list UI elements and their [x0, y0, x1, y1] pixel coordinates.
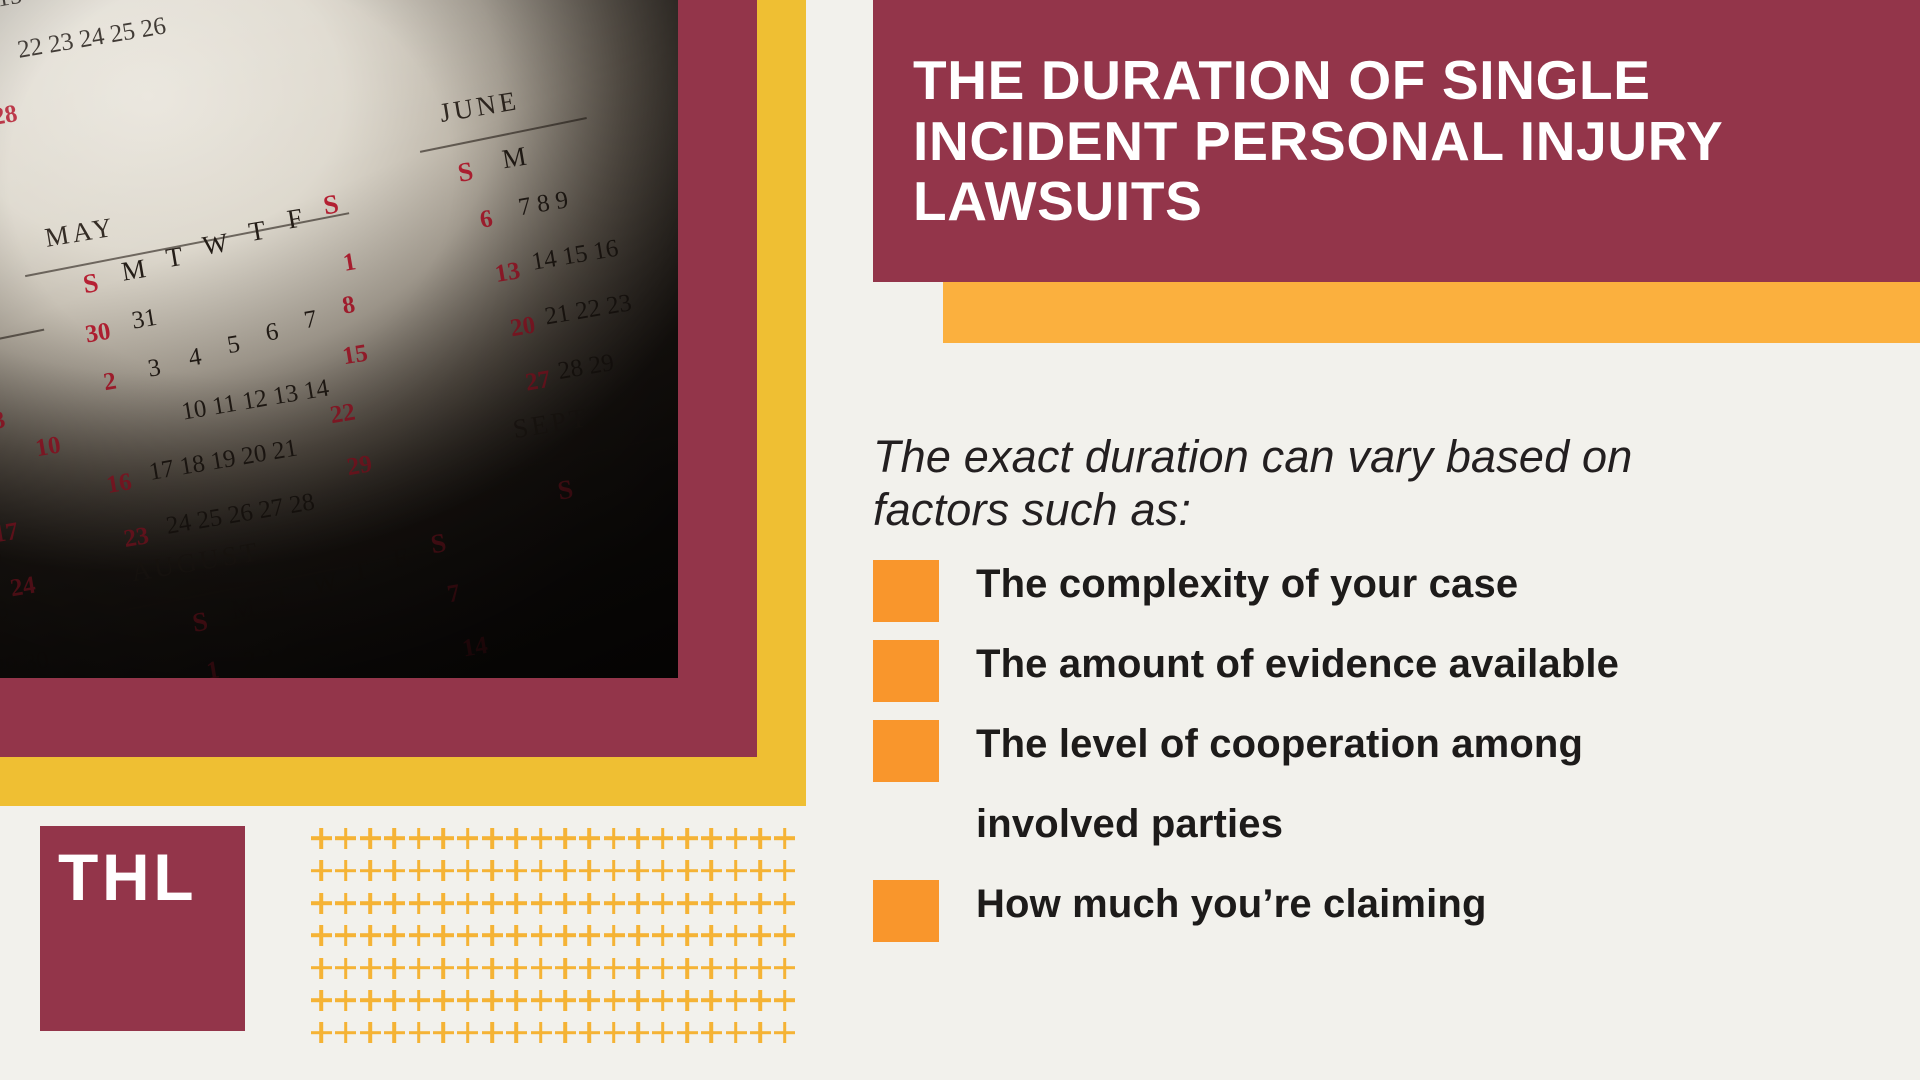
plus-icon — [577, 891, 601, 915]
plus-icon — [748, 1020, 772, 1044]
bullet-square-icon — [873, 640, 939, 702]
plus-icon — [309, 956, 333, 980]
plus-icon — [626, 826, 650, 850]
bullet-square-icon — [873, 720, 939, 782]
plus-icon — [455, 923, 479, 947]
plus-icon — [382, 956, 406, 980]
plus-icon — [455, 858, 479, 882]
factor-label: The level of cooperation among — [976, 718, 1583, 767]
plus-icon — [358, 891, 382, 915]
plus-icon — [480, 891, 504, 915]
plus-icon — [455, 891, 479, 915]
plus-icon — [577, 923, 601, 947]
plus-icon — [675, 858, 699, 882]
plus-icon — [455, 826, 479, 850]
plus-icon — [480, 956, 504, 980]
plus-icon — [602, 956, 626, 980]
plus-icon — [529, 988, 553, 1012]
factor-item: involved parties — [873, 798, 1883, 862]
factor-label: involved parties — [976, 798, 1283, 847]
plus-icon — [407, 891, 431, 915]
plus-icon — [772, 988, 796, 1012]
plus-icon — [577, 988, 601, 1012]
plus-icon — [333, 858, 357, 882]
plus-icon — [602, 826, 626, 850]
plus-icon — [650, 858, 674, 882]
plus-icon — [699, 826, 723, 850]
plus-icon — [382, 858, 406, 882]
plus-icon — [455, 1020, 479, 1044]
plus-icon — [529, 891, 553, 915]
plus-icon — [529, 826, 553, 850]
plus-icon — [772, 1020, 796, 1044]
plus-icon — [675, 988, 699, 1012]
plus-icon — [504, 1020, 528, 1044]
plus-icon — [577, 1020, 601, 1044]
plus-icon — [504, 988, 528, 1012]
plus-icon — [431, 1020, 455, 1044]
plus-icon — [333, 923, 357, 947]
plus-icon — [358, 923, 382, 947]
plus-icon — [455, 956, 479, 980]
plus-icon — [407, 988, 431, 1012]
factor-item: The complexity of your case — [873, 558, 1883, 622]
plus-icon — [650, 988, 674, 1012]
plus-icon — [553, 988, 577, 1012]
plus-icon — [772, 858, 796, 882]
plus-icon — [577, 956, 601, 980]
plus-icon — [748, 858, 772, 882]
plus-icon — [333, 1020, 357, 1044]
plus-icon — [407, 1020, 431, 1044]
plus-icon — [480, 1020, 504, 1044]
plus-icon — [699, 858, 723, 882]
bullet-square-icon — [873, 560, 939, 622]
plus-icon — [626, 923, 650, 947]
plus-icon — [504, 923, 528, 947]
plus-icon — [602, 923, 626, 947]
plus-icon — [333, 956, 357, 980]
plus-icon — [407, 956, 431, 980]
plus-icon — [724, 1020, 748, 1044]
plus-icon — [358, 956, 382, 980]
plus-icon — [699, 1020, 723, 1044]
bullet-square-icon — [873, 880, 939, 942]
plus-icon — [382, 826, 406, 850]
plus-icon — [431, 858, 455, 882]
plus-icon — [431, 891, 455, 915]
photo-vignette — [0, 0, 678, 678]
factor-label: How much you’re claiming — [976, 878, 1487, 927]
plus-icon — [724, 891, 748, 915]
plus-icon — [724, 858, 748, 882]
plus-icon — [699, 988, 723, 1012]
factor-item: The level of cooperation among — [873, 718, 1883, 782]
plus-icon — [675, 891, 699, 915]
plus-icon — [650, 1020, 674, 1044]
plus-icon — [431, 956, 455, 980]
plus-pattern — [309, 826, 797, 1045]
plus-icon — [675, 956, 699, 980]
title-block: THE DURATION OF SINGLE INCIDENT PERSONAL… — [873, 0, 1920, 282]
plus-icon — [382, 923, 406, 947]
lede-text: The exact duration can vary based on fac… — [873, 430, 1673, 536]
plus-icon — [309, 988, 333, 1012]
plus-icon — [553, 858, 577, 882]
plus-icon — [650, 923, 674, 947]
factor-item: The amount of evidence available — [873, 638, 1883, 702]
plus-icon — [529, 923, 553, 947]
plus-icon — [626, 858, 650, 882]
plus-icon — [431, 988, 455, 1012]
plus-icon — [407, 858, 431, 882]
page-title: THE DURATION OF SINGLE INCIDENT PERSONAL… — [873, 50, 1920, 232]
plus-icon — [382, 988, 406, 1012]
factors-list: The complexity of your caseThe amount of… — [873, 558, 1883, 942]
plus-icon — [431, 923, 455, 947]
plus-icon — [553, 826, 577, 850]
plus-icon — [480, 923, 504, 947]
plus-icon — [748, 891, 772, 915]
plus-icon — [699, 956, 723, 980]
plus-icon — [333, 826, 357, 850]
plus-icon — [602, 858, 626, 882]
plus-icon — [309, 891, 333, 915]
content-column: The exact duration can vary based on fac… — [873, 430, 1883, 958]
accent-bar — [943, 282, 1920, 343]
factor-item: How much you’re claiming — [873, 878, 1883, 942]
plus-icon — [358, 826, 382, 850]
plus-icon — [626, 891, 650, 915]
plus-icon — [382, 891, 406, 915]
plus-icon — [407, 923, 431, 947]
plus-icon — [504, 956, 528, 980]
plus-icon — [772, 891, 796, 915]
plus-icon — [382, 1020, 406, 1044]
plus-icon — [650, 956, 674, 980]
calendar-photo: 8 9 15 16 22 23 28 29 30 14 15 21 22 23 … — [0, 0, 678, 678]
plus-icon — [480, 988, 504, 1012]
plus-icon — [602, 891, 626, 915]
plus-icon — [333, 891, 357, 915]
plus-icon — [772, 956, 796, 980]
plus-icon — [626, 1020, 650, 1044]
plus-icon — [553, 1020, 577, 1044]
plus-icon — [577, 826, 601, 850]
thl-logo[interactable]: THL — [40, 826, 245, 1031]
plus-icon — [431, 826, 455, 850]
plus-icon — [529, 956, 553, 980]
plus-icon — [504, 891, 528, 915]
plus-icon — [504, 858, 528, 882]
plus-icon — [724, 988, 748, 1012]
plus-icon — [358, 988, 382, 1012]
plus-icon — [455, 988, 479, 1012]
plus-icon — [529, 858, 553, 882]
thl-logo-text: THL — [58, 844, 197, 910]
infographic-canvas: 8 9 15 16 22 23 28 29 30 14 15 21 22 23 … — [0, 0, 1920, 1080]
plus-icon — [504, 826, 528, 850]
factor-label: The complexity of your case — [976, 558, 1518, 607]
plus-icon — [724, 826, 748, 850]
plus-icon — [724, 923, 748, 947]
plus-icon — [309, 1020, 333, 1044]
plus-icon — [699, 891, 723, 915]
plus-icon — [650, 891, 674, 915]
plus-icon — [553, 956, 577, 980]
plus-icon — [748, 923, 772, 947]
plus-icon — [358, 1020, 382, 1044]
plus-icon — [626, 988, 650, 1012]
plus-icon — [407, 826, 431, 850]
plus-icon — [748, 826, 772, 850]
plus-icon — [675, 923, 699, 947]
plus-icon — [675, 1020, 699, 1044]
plus-icon — [724, 956, 748, 980]
plus-icon — [602, 988, 626, 1012]
plus-icon — [309, 858, 333, 882]
plus-icon — [675, 826, 699, 850]
factor-label: The amount of evidence available — [976, 638, 1619, 687]
plus-icon — [529, 1020, 553, 1044]
plus-icon — [602, 1020, 626, 1044]
plus-icon — [358, 858, 382, 882]
plus-icon — [699, 923, 723, 947]
plus-icon — [626, 956, 650, 980]
plus-icon — [577, 858, 601, 882]
plus-icon — [309, 826, 333, 850]
plus-icon — [553, 891, 577, 915]
plus-icon — [309, 923, 333, 947]
plus-icon — [480, 858, 504, 882]
plus-icon — [772, 826, 796, 850]
plus-icon — [650, 826, 674, 850]
plus-icon — [748, 988, 772, 1012]
plus-icon — [480, 826, 504, 850]
plus-icon — [772, 923, 796, 947]
plus-icon — [748, 956, 772, 980]
plus-icon — [553, 923, 577, 947]
plus-icon — [333, 988, 357, 1012]
